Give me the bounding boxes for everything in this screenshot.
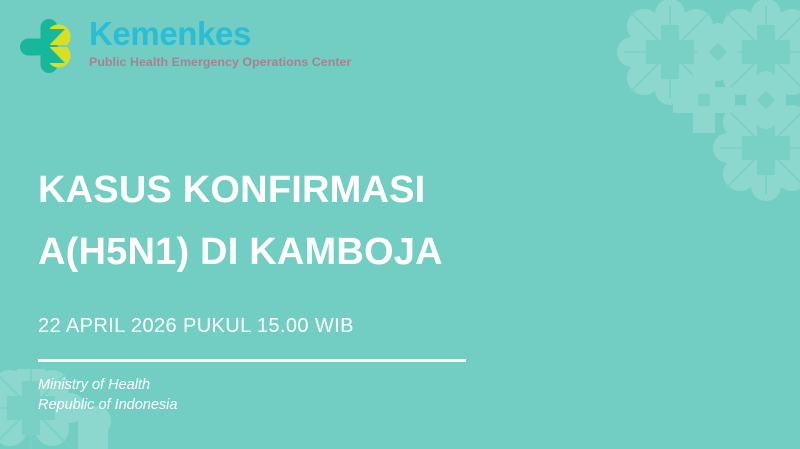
timestamp-label: 22 APRIL 2026 PUKUL 15.00 WIB [38, 315, 558, 338]
slide-content: KASUS KONFIRMASI A(H5N1) DI KAMBOJA 22 A… [38, 160, 558, 415]
brand-text-block: Kemenkes Public Health Emergency Operati… [89, 14, 351, 69]
page-title: KASUS KONFIRMASI A(H5N1) DI KAMBOJA [38, 160, 558, 283]
headline-line-1: KASUS KONFIRMASI [38, 160, 558, 222]
presentation-slide: Kemenkes Public Health Emergency Operati… [0, 0, 800, 449]
footer-line-1: Ministry of Health [38, 375, 558, 395]
headline-line-2: A(H5N1) DI KAMBOJA [38, 222, 558, 284]
kemenkes-logo-icon [18, 15, 80, 77]
brand-name: Kemenkes [89, 17, 351, 51]
organization-footer: Ministry of Health Republic of Indonesia [38, 375, 558, 415]
decorative-pattern-top-right [570, 0, 800, 230]
footer-line-2: Republic of Indonesia [38, 395, 558, 415]
divider [38, 359, 466, 362]
brand-lockup: Kemenkes Public Health Emergency Operati… [18, 14, 351, 77]
brand-subtitle: Public Health Emergency Operations Cente… [89, 56, 351, 70]
